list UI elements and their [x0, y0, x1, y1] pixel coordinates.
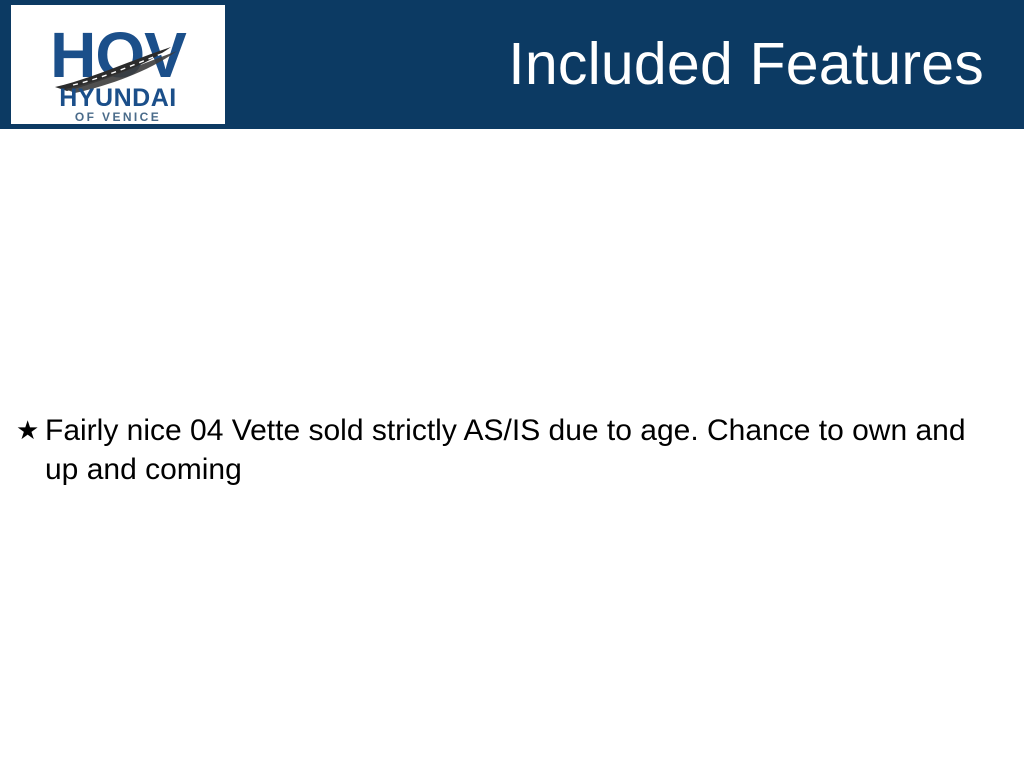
star-bullet-icon: ★: [14, 411, 45, 450]
hov-hyundai-of-venice-logo-icon: HOV HYUNDAI OF VENICE: [11, 5, 225, 124]
slide-body: ★ Fairly nice 04 Vette sold strictly AS/…: [0, 129, 1024, 768]
slide-canvas: Included Features HOV HYUNDAI OF VENICE …: [0, 0, 1024, 768]
bullet-list: ★ Fairly nice 04 Vette sold strictly AS/…: [14, 411, 999, 489]
dealer-logo: HOV HYUNDAI OF VENICE: [11, 5, 225, 124]
list-item: ★ Fairly nice 04 Vette sold strictly AS/…: [14, 411, 999, 489]
svg-text:OF VENICE: OF VENICE: [75, 110, 161, 124]
bullet-text: Fairly nice 04 Vette sold strictly AS/IS…: [45, 411, 985, 489]
svg-text:HYUNDAI: HYUNDAI: [59, 84, 176, 112]
page-title: Included Features: [508, 30, 984, 98]
